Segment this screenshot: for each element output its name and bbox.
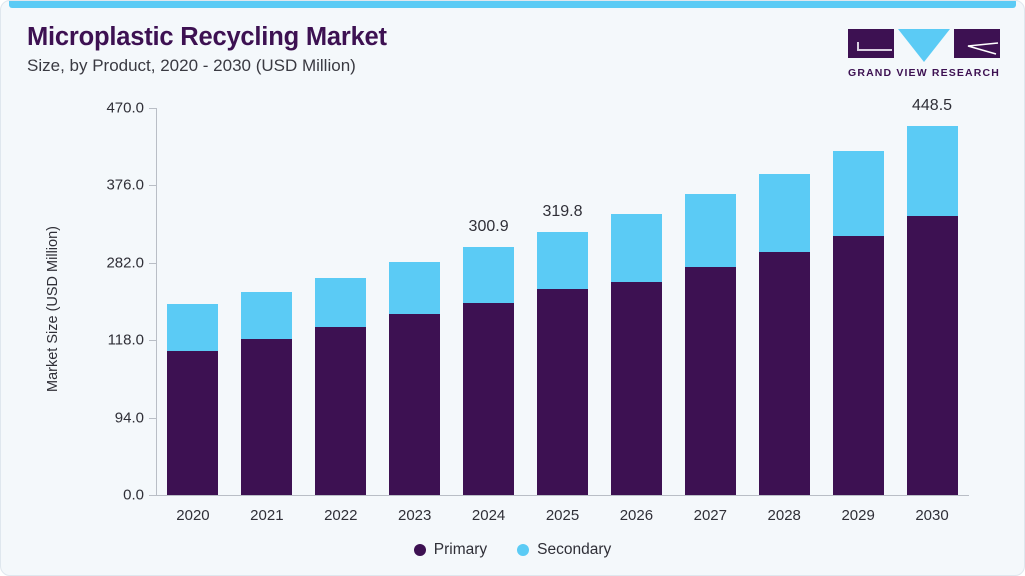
x-axis-tick-label: 2027: [694, 507, 727, 524]
x-axis-tick-label: 2025: [546, 507, 579, 524]
bar-group[interactable]: [389, 262, 440, 495]
legend-color-swatch-icon: [414, 544, 426, 556]
bar-segment-primary[interactable]: [833, 236, 884, 495]
bar-segment-primary[interactable]: [907, 216, 958, 495]
bar-group[interactable]: [167, 304, 218, 495]
x-axis-tick-label: 2022: [324, 507, 357, 524]
y-axis-tick-label: 118.0: [1, 332, 144, 349]
bar-group[interactable]: [315, 278, 366, 495]
bar-group[interactable]: [463, 247, 514, 495]
y-axis-tick-mark: [149, 418, 156, 419]
x-axis-line: [156, 495, 969, 496]
bar-group[interactable]: [611, 214, 662, 495]
bar-segment-primary[interactable]: [759, 252, 810, 495]
bar-segment-secondary[interactable]: [167, 304, 218, 351]
legend-item-primary[interactable]: Primary: [414, 541, 487, 559]
bar-segment-primary[interactable]: [685, 267, 736, 495]
bar-segment-primary[interactable]: [389, 314, 440, 495]
bar-segment-secondary[interactable]: [389, 262, 440, 314]
y-axis-line: [156, 108, 157, 495]
x-axis-tick-label: 2024: [472, 507, 505, 524]
y-axis-tick-mark: [149, 340, 156, 341]
bar-segment-secondary[interactable]: [537, 232, 588, 289]
bar-segment-primary[interactable]: [167, 351, 218, 495]
x-axis-tick-label: 2023: [398, 507, 431, 524]
y-axis-tick-mark: [149, 185, 156, 186]
bar-segment-secondary[interactable]: [463, 247, 514, 303]
bar-group[interactable]: [833, 151, 884, 495]
bar-segment-primary[interactable]: [463, 303, 514, 495]
y-axis-tick-label: 470.0: [1, 100, 144, 117]
x-axis-tick-label: 2020: [176, 507, 209, 524]
bar-segment-primary[interactable]: [241, 339, 292, 495]
bar-group[interactable]: [685, 194, 736, 495]
bar-segment-secondary[interactable]: [833, 151, 884, 236]
bar-group[interactable]: [241, 292, 292, 495]
bar-segment-primary[interactable]: [611, 282, 662, 495]
x-axis-tick-label: 2030: [915, 507, 948, 524]
bar-segment-secondary[interactable]: [759, 174, 810, 252]
y-axis-tick-label: 376.0: [1, 177, 144, 194]
bar-segment-secondary[interactable]: [315, 278, 366, 327]
bar-segment-secondary[interactable]: [907, 126, 958, 216]
y-axis-tick-label: 0.0: [1, 487, 144, 504]
bar-group[interactable]: [907, 126, 958, 495]
bar-segment-secondary[interactable]: [241, 292, 292, 339]
bar-value-label: 300.9: [469, 218, 509, 236]
legend-item-label: Secondary: [537, 541, 611, 559]
bar-segment-primary[interactable]: [537, 289, 588, 495]
x-axis-tick-label: 2021: [250, 507, 283, 524]
bar-segment-secondary[interactable]: [685, 194, 736, 266]
bar-group[interactable]: [759, 174, 810, 495]
y-axis-tick-label: 282.0: [1, 254, 144, 271]
legend-item-secondary[interactable]: Secondary: [517, 541, 611, 559]
plot-area: Market Size (USD Million) 470.0376.0282.…: [1, 1, 1025, 576]
x-axis-tick-label: 2028: [768, 507, 801, 524]
bar-segment-primary[interactable]: [315, 327, 366, 495]
bar-segment-secondary[interactable]: [611, 214, 662, 282]
bar-group[interactable]: [537, 232, 588, 495]
legend-color-swatch-icon: [517, 544, 529, 556]
y-axis-tick-mark: [149, 495, 156, 496]
bar-value-label: 448.5: [912, 97, 952, 115]
chart-card: Microplastic Recycling Market Size, by P…: [0, 0, 1025, 576]
legend-item-label: Primary: [434, 541, 487, 559]
y-axis-tick-mark: [149, 108, 156, 109]
bar-value-label: 319.8: [542, 203, 582, 221]
x-axis-tick-label: 2026: [620, 507, 653, 524]
chart-legend: PrimarySecondary: [1, 541, 1024, 559]
y-axis-tick-label: 94.0: [1, 409, 144, 426]
x-axis-tick-label: 2029: [841, 507, 874, 524]
y-axis-tick-mark: [149, 263, 156, 264]
